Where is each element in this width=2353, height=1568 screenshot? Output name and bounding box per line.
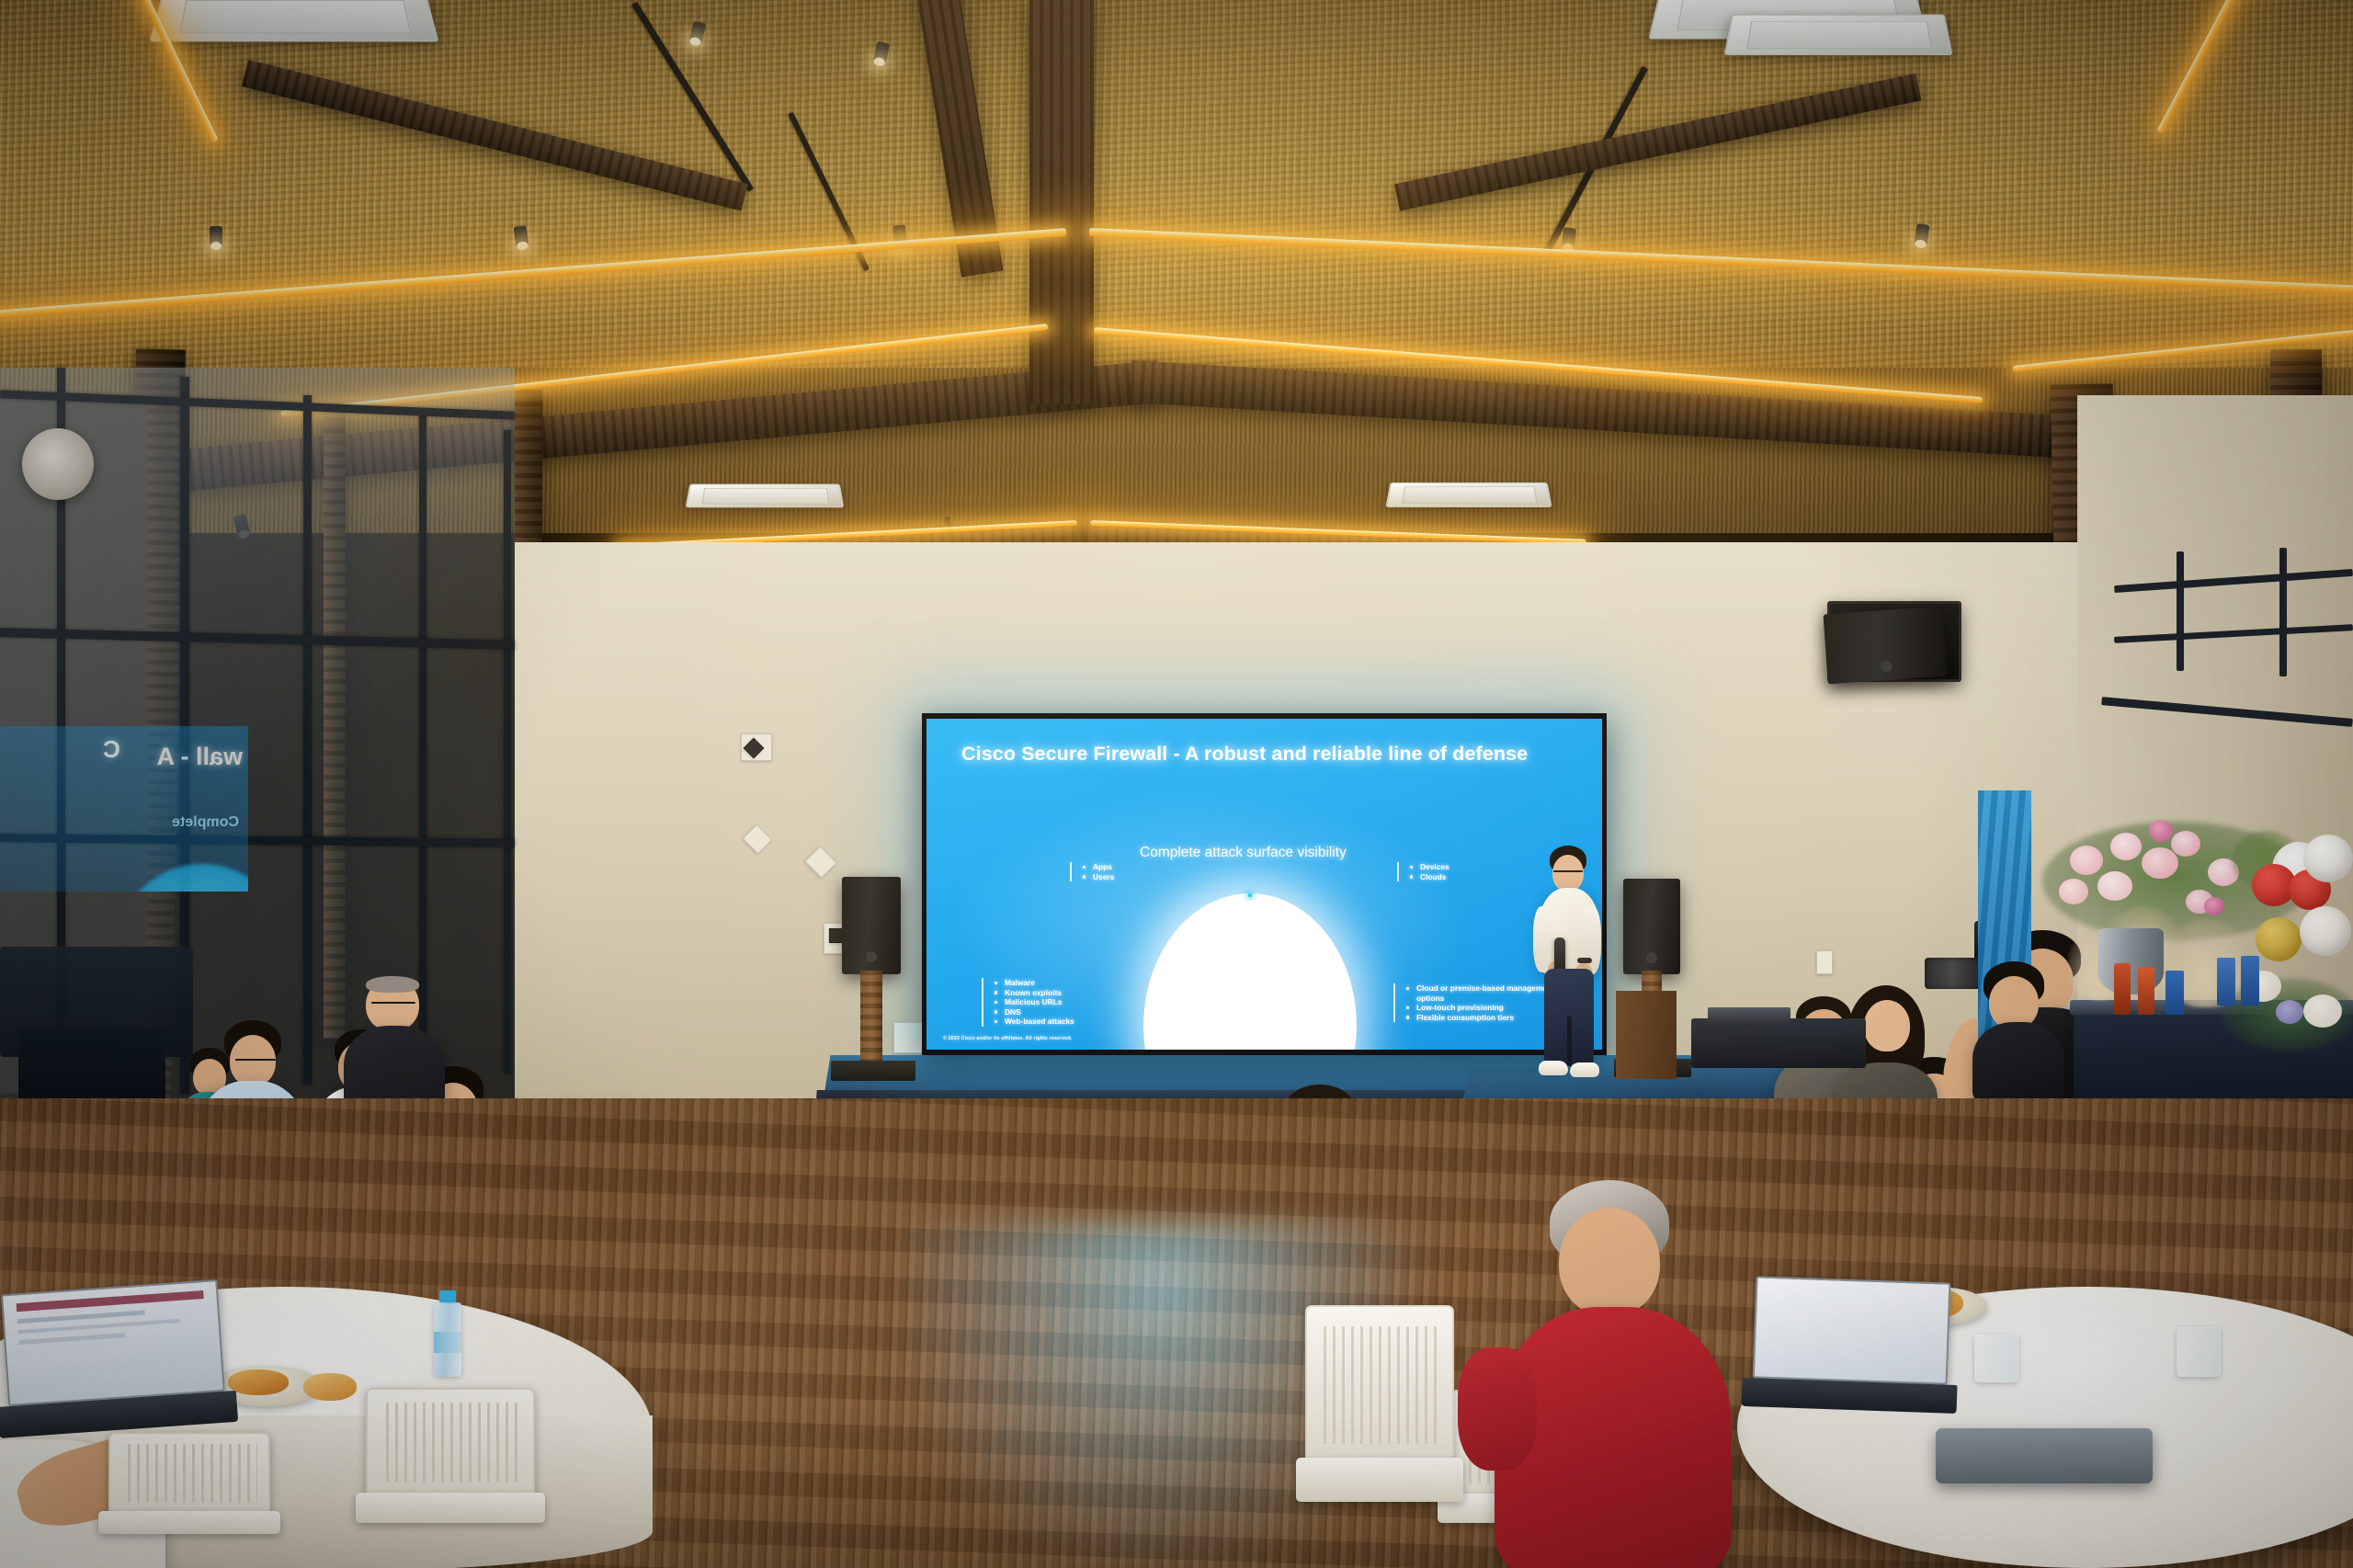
arm	[1458, 1347, 1537, 1471]
bar-bottle	[2138, 967, 2154, 1015]
ac-cassette	[686, 483, 845, 507]
list-item: Users	[1083, 872, 1114, 882]
chair-foreground-left	[108, 1432, 270, 1568]
mezzanine-post	[2177, 551, 2184, 671]
bullet-rule	[1070, 862, 1072, 881]
mezzanine-post	[2279, 548, 2287, 676]
podium	[1616, 991, 1677, 1079]
ac-cassette	[1385, 483, 1552, 507]
slide-bullets-top-left: Apps Users	[1070, 862, 1114, 881]
head	[1559, 1208, 1660, 1316]
list-item: Clouds	[1410, 872, 1449, 882]
bar-staff	[1972, 961, 2064, 1099]
slide-title: Cisco Secure Firewall - A robust and rel…	[961, 743, 1583, 766]
balloon-gold	[2256, 917, 2302, 961]
presenter-shoe-left	[1539, 1061, 1568, 1075]
glasses	[371, 1002, 415, 1004]
list-item: Apps	[1083, 862, 1114, 872]
rose	[2171, 831, 2200, 857]
slide-bullets-top-right: Devices Clouds	[1397, 862, 1449, 881]
chair-right-of-red	[1305, 1305, 1454, 1568]
presenter-leg-gap	[1567, 1017, 1572, 1066]
presenter-head	[1552, 855, 1584, 892]
list-item: DNS	[995, 1007, 1074, 1017]
head	[1864, 1000, 1910, 1051]
rose-magenta	[2149, 820, 2173, 842]
torso	[1972, 1022, 2064, 1105]
glass-mullion-vertical	[504, 430, 511, 1074]
slide-bullets-bottom-left: Malware Known exploits Malicious URLs DN…	[982, 978, 1074, 1027]
bullet-rule	[1397, 862, 1399, 881]
bar-bottle	[2114, 963, 2131, 1015]
bullet-rule	[1393, 983, 1395, 1022]
bar-can	[2217, 958, 2235, 1006]
bar-can	[2241, 956, 2259, 1006]
slide-reflection-in-glass: wall - A Complete	[0, 726, 248, 892]
head	[230, 1035, 276, 1086]
list-item: Devices	[1410, 862, 1449, 872]
balloon-white	[2300, 906, 2351, 956]
bullet-rule	[982, 978, 983, 1027]
presenter	[1526, 846, 1610, 1094]
balloon-white	[2303, 835, 2353, 882]
slide-surface: Cisco Secure Firewall - A robust and rel…	[926, 719, 1602, 1050]
wall-plate-small	[1816, 950, 1833, 974]
pa-speaker-right	[1623, 879, 1680, 974]
chair-foreground-center	[366, 1388, 535, 1568]
track-spotlight	[210, 226, 222, 246]
drinking-glass	[2177, 1327, 2221, 1377]
glass-reflection-text-right: C	[103, 735, 120, 764]
white-flower	[2303, 994, 2342, 1028]
laptop-right-foreground	[1752, 1276, 1951, 1413]
pa-speaker-ceiling	[1824, 607, 1948, 685]
drinking-glass	[1974, 1335, 2018, 1382]
ac-cassette	[150, 0, 439, 41]
pa-speaker-base-left	[831, 1061, 915, 1081]
track-spotlight	[1562, 227, 1576, 248]
ac-cassette	[1724, 14, 1953, 55]
rose	[2059, 879, 2088, 904]
rose	[2110, 833, 2142, 860]
glass-mullion-vertical	[303, 395, 312, 1085]
attendee-bald-man	[344, 976, 445, 1114]
laptop-closed-foreground	[1936, 1428, 2153, 1483]
presentation-screen: Cisco Secure Firewall - A robust and rel…	[922, 713, 1607, 1055]
list-item: Web-based attacks	[995, 1017, 1074, 1027]
purple-flower	[2276, 1000, 2303, 1024]
list-item: Known exploits	[995, 988, 1074, 998]
pa-speaker-stand-left	[860, 971, 882, 1072]
rose	[2070, 846, 2103, 875]
pa-speaker-left	[842, 877, 901, 974]
slide-footer: © 2023 Cisco and/or its affiliates. All …	[943, 1036, 1073, 1041]
av-mixer	[1708, 1007, 1790, 1024]
pastry	[228, 1369, 289, 1395]
track-spotlight	[514, 225, 529, 247]
list-item: Malware	[995, 978, 1074, 988]
slide-node-dot	[1248, 893, 1252, 897]
pastry	[303, 1373, 357, 1401]
presenter-glasses	[1553, 870, 1583, 872]
water-bottle	[434, 1290, 461, 1377]
rose	[2097, 871, 2132, 901]
hair	[366, 976, 419, 993]
ceiling-beam-center	[1029, 0, 1094, 404]
presenter-shoe-right	[1570, 1062, 1599, 1077]
event-photo-scene: wall - A Complete C Cisco Secure Firewal…	[0, 0, 2353, 1568]
slide-central-circle	[1143, 893, 1357, 1050]
glasses	[235, 1059, 276, 1061]
laptop-screen	[1753, 1276, 1951, 1384]
wall-fan	[22, 428, 94, 500]
av-equipment-table	[1691, 1018, 1866, 1068]
bar-can	[2165, 971, 2184, 1015]
presenter-watch	[1577, 958, 1592, 963]
rose-magenta	[2204, 897, 2224, 915]
list-item: Malicious URLs	[995, 997, 1074, 1007]
laptop-screen	[1, 1279, 225, 1406]
attendee-red-polo-foreground	[1495, 1180, 1732, 1568]
rose	[2142, 847, 2178, 879]
slide-center-label: Complete attack surface visibility	[1140, 845, 1347, 861]
